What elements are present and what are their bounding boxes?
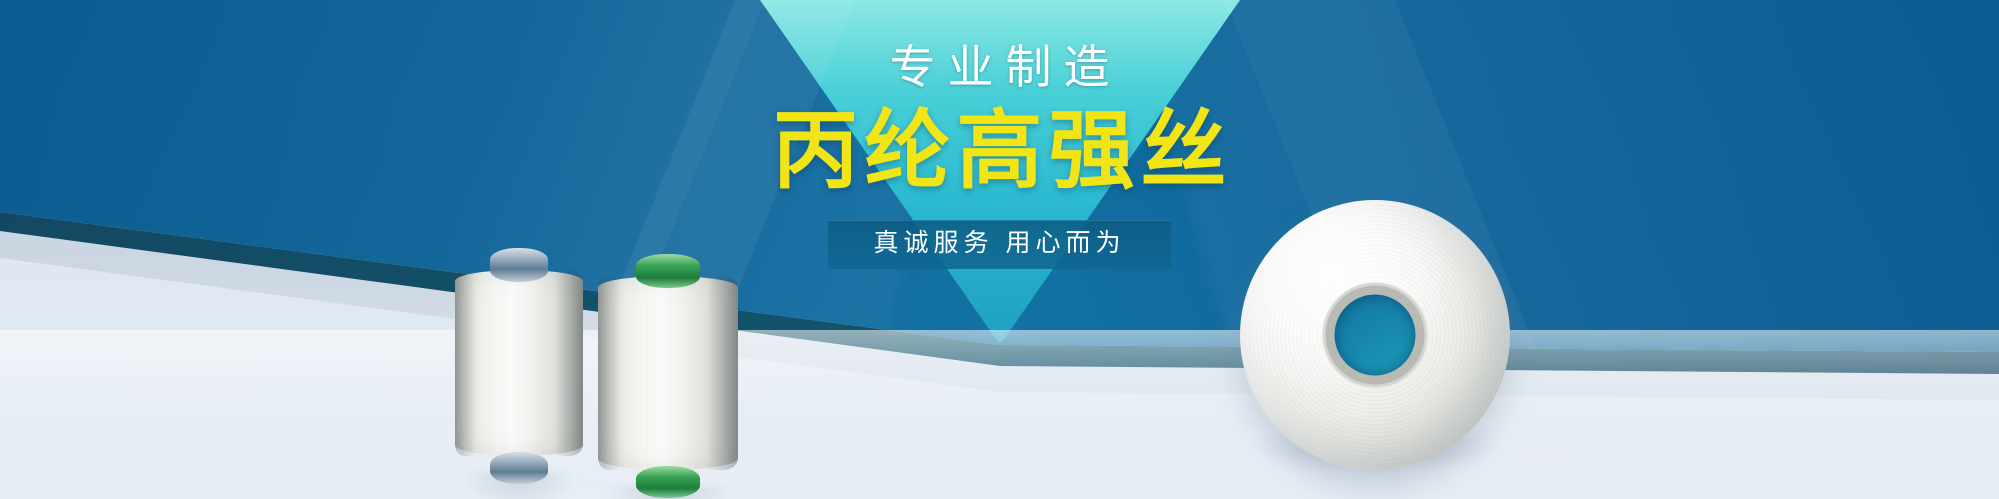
- yarn-cone-right-shade-r: [707, 276, 738, 470]
- yarn-cone-left: [455, 248, 583, 478]
- floor-reflection-sheen: [0, 330, 1999, 499]
- yarn-cone-right-cap-top: [636, 254, 700, 288]
- yarn-cone-left-shade-r: [555, 270, 583, 456]
- yarn-cone-left-cap-top: [490, 248, 549, 282]
- product-hero-banner: 专业制造 丙纶高强丝 真诚服务 用心而为: [0, 0, 1999, 499]
- yarn-cone-right-cap-bottom: [636, 466, 700, 498]
- yarn-cone-left-cap-bottom: [490, 452, 549, 484]
- yarn-roll: [1240, 200, 1510, 470]
- yarn-cone-right: [598, 254, 738, 492]
- yarn-roll-core-hole: [1335, 295, 1416, 376]
- yarn-cone-right-shade-l: [598, 276, 620, 470]
- yarn-cone-left-shade-l: [455, 270, 475, 456]
